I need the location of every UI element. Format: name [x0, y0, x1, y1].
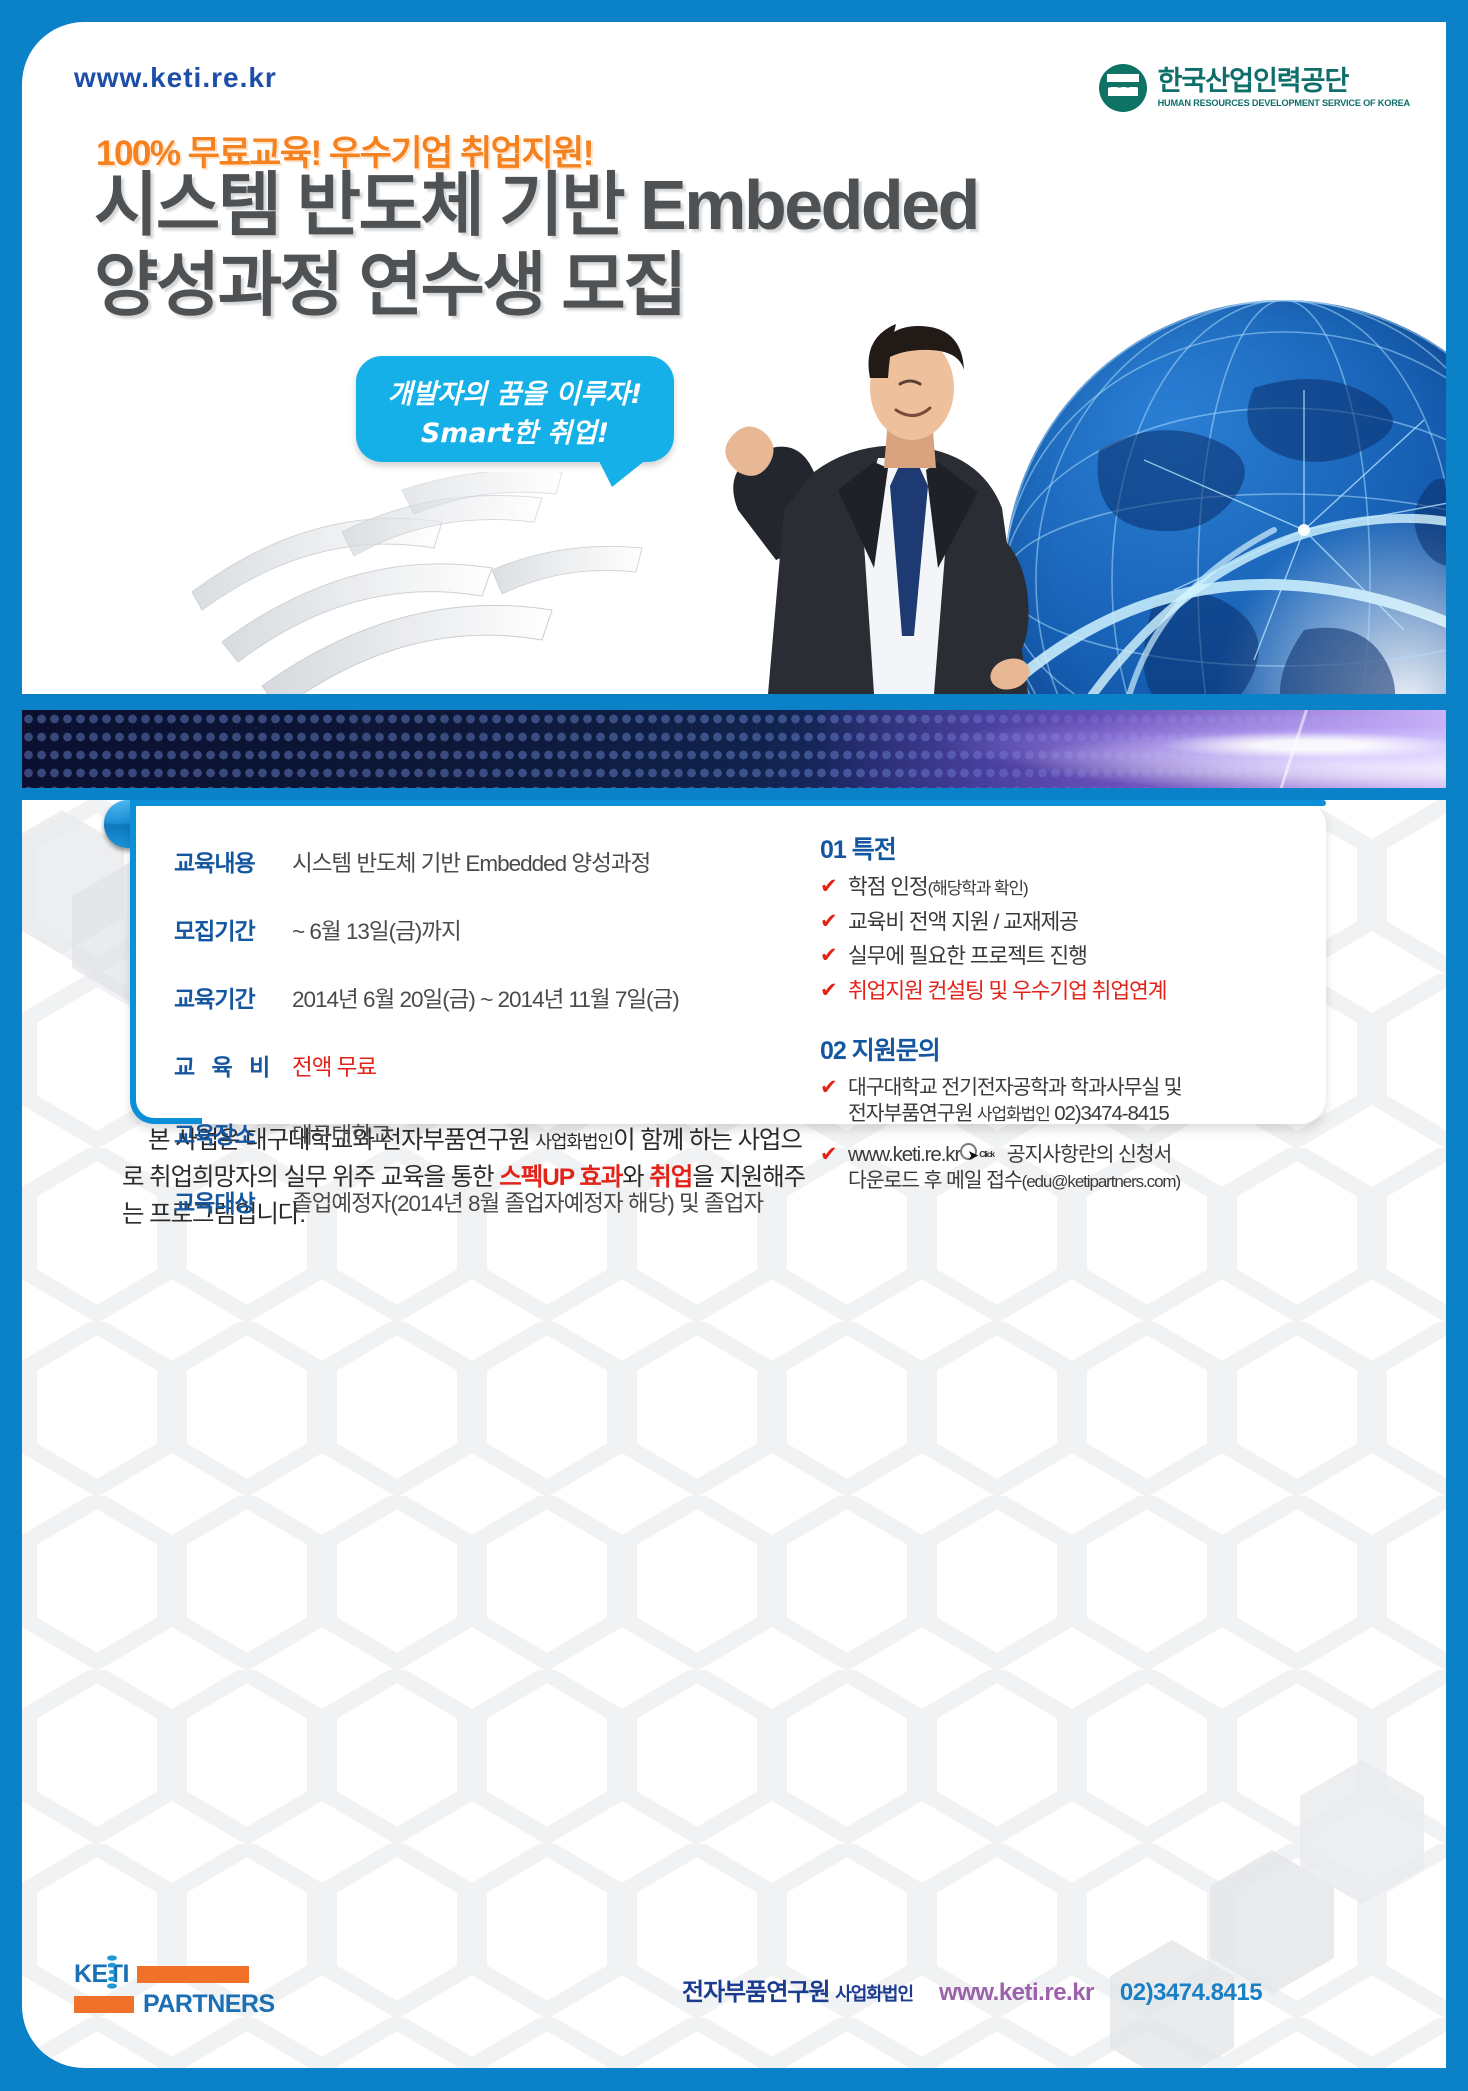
list-item: ✔ 학점 인정(해당학과 확인)	[820, 874, 1290, 902]
row-value: 졸업예정자(2014년 8월 졸업자예정자 해당) 및 졸업자	[292, 1186, 763, 1218]
notice-right-column: 01 특전 ✔ 학점 인정(해당학과 확인) ✔ 교육비 전액 지원 / 교재제…	[820, 830, 1290, 1208]
speech-bubble-line1: 개발자의 꿈을 이루자!	[356, 372, 674, 411]
table-row: 교육대상 졸업예정자(2014년 8월 졸업자예정자 해당) 및 졸업자	[174, 1184, 774, 1218]
contact-after: 공지사항란의 신청서	[1002, 1143, 1171, 1166]
keti-partners-logo: KETI PARTNERS	[74, 1960, 274, 2020]
row-value: 2014년 6월 20일(금) ~ 2014년 11월 7일(금)	[292, 982, 679, 1014]
benefit-plain: / 교재제공	[989, 910, 1078, 934]
benefits-list: ✔ 학점 인정(해당학과 확인) ✔ 교육비 전액 지원 / 교재제공 ✔ 실무…	[820, 874, 1290, 1005]
click-cursor-icon: ➤Click	[960, 1147, 1002, 1163]
list-item: ✔ 대구대학교 전기전자공학과 학과사무실 및 전자부품연구원 사업화법인 02…	[820, 1075, 1290, 1127]
benefit-red: 취업지원 컨설팅 및 우수기업 취업연계	[848, 978, 1166, 1006]
footer-org: 전자부품연구원 사업화법인	[682, 1972, 913, 2007]
footer-url[interactable]: www.keti.re.kr	[939, 1979, 1094, 2007]
list-item: ✔ 실무에 필요한 프로젝트 진행	[820, 943, 1290, 971]
banner-glow	[826, 710, 1446, 788]
contact-line1: 대구대학교 전기전자공학과 학과사무실 및	[848, 1076, 1181, 1099]
row-label: 교 육 비	[174, 1048, 292, 1082]
keti-wordmark: KETI	[74, 1960, 129, 1989]
check-icon: ✔	[820, 978, 848, 1005]
list-item: ✔ 교육비 전액 지원 / 교재제공	[820, 909, 1290, 937]
benefit-plain: 실무에 필요한 프로젝트 진행	[848, 943, 1087, 971]
contact-line2b: 사업화법인	[977, 1105, 1050, 1124]
row-value: 전액 무료	[292, 1050, 376, 1082]
tech-banner-strip	[22, 710, 1446, 788]
hero-title-line1: 시스템 반도체 기반 Embedded	[94, 170, 978, 240]
hrd-name-ko: 한국산업인력공단	[1158, 68, 1410, 95]
hrd-name-en: HUMAN RESOURCES DEVELOPMENT SERVICE OF K…	[1158, 98, 1410, 108]
contact-section: 02 지원문의 ✔ 대구대학교 전기전자공학과 학과사무실 및 전자부품연구원 …	[820, 1031, 1290, 1194]
contact-list: ✔ 대구대학교 전기전자공학과 학과사무실 및 전자부품연구원 사업화법인 02…	[820, 1075, 1290, 1194]
contact-line2: 다운로드 후 메일 접수	[848, 1169, 1022, 1192]
row-value: 대구대학교	[292, 1118, 391, 1150]
list-item: ✔ 취업지원 컨설팅 및 우수기업 취업연계	[820, 978, 1290, 1006]
content-panel: 청년취업아카데미 사업 본 사업은 대구대학교와 전자부품연구원 사업화법인이 …	[22, 800, 1446, 2068]
check-icon: ✔	[820, 909, 848, 936]
speech-bubble-line2: Smart한 취업!	[356, 411, 674, 450]
row-label: 교육장소	[174, 1116, 292, 1150]
table-row: 교육기간 2014년 6월 20일(금) ~ 2014년 11월 7일(금)	[174, 980, 774, 1014]
benefits-title: 01 특전	[820, 830, 1290, 866]
poster-root: www.keti.re.kr 한국산업인력공단 HUMAN RESOURCES …	[0, 0, 1468, 2091]
benefit-small: (해당학과 확인)	[928, 879, 1028, 898]
check-icon: ✔	[820, 1142, 848, 1169]
table-row: 모집기간 ~ 6월 13일(금)까지	[174, 912, 774, 946]
hrd-korea-logo: 한국산업인력공단 HUMAN RESOURCES DEVELOPMENT SER…	[1099, 64, 1410, 112]
partners-orange-bar	[74, 1996, 134, 2013]
row-label: 교육대상	[174, 1184, 292, 1218]
partners-wordmark: PARTNERS	[143, 1990, 275, 2019]
speech-bubble: 개발자의 꿈을 이루자! Smart한 취업!	[356, 356, 674, 462]
hero-panel: www.keti.re.kr 한국산업인력공단 HUMAN RESOURCES …	[22, 22, 1446, 694]
footer: KETI PARTNERS 전자부품연구원 사업화법인 www.keti.re.…	[22, 1946, 1446, 2068]
check-icon: ✔	[820, 874, 848, 901]
row-label: 교육내용	[174, 844, 292, 878]
table-row: 교 육 비 전액 무료	[174, 1048, 774, 1082]
businessman-photo	[642, 322, 1122, 694]
paper-arrows-graphic	[192, 472, 712, 694]
footer-tel: 02)3474.8415	[1120, 1979, 1262, 2007]
row-value: 시스템 반도체 기반 Embedded 양성과정	[292, 846, 650, 878]
row-label: 모집기간	[174, 912, 292, 946]
keti-orange-bar	[137, 1966, 249, 1983]
contact-line2a: 전자부품연구원	[848, 1102, 977, 1125]
table-row: 교육내용 시스템 반도체 기반 Embedded 양성과정	[174, 844, 774, 878]
contact-email: (edu@ketipartners.com)	[1022, 1172, 1180, 1191]
check-icon: ✔	[820, 1075, 848, 1102]
list-item: ✔ www.keti.re.kr➤Click 공지사항란의 신청서 다운로드 후…	[820, 1142, 1290, 1194]
click-label: Click	[979, 1149, 994, 1160]
table-row: 교육장소 대구대학교	[174, 1116, 774, 1150]
row-value: ~ 6월 13일(금)까지	[292, 914, 461, 946]
keti-logo-row-top: KETI	[74, 1960, 249, 1989]
hero-title-line2: 양성과정 연수생 모집	[94, 250, 685, 320]
hrd-wave-icon	[1099, 64, 1147, 112]
footer-contact: 전자부품연구원 사업화법인 www.keti.re.kr 02)3474.841…	[682, 1972, 1262, 2007]
card-top-rule	[130, 800, 1326, 806]
card-left-rule	[130, 800, 136, 1100]
check-icon: ✔	[820, 943, 848, 970]
contact-title: 02 지원문의	[820, 1031, 1290, 1067]
benefit-red: 교육비 전액 지원	[848, 910, 989, 934]
notice-card: 교육내용 시스템 반도체 기반 Embedded 양성과정 모집기간 ~ 6월 …	[130, 800, 1326, 1124]
contact-phone: 02)3474-8415	[1050, 1102, 1169, 1125]
keti-dot-column-icon	[106, 1954, 118, 1994]
row-label: 교육기간	[174, 980, 292, 1014]
notice-rows: 교육내용 시스템 반도체 기반 Embedded 양성과정 모집기간 ~ 6월 …	[174, 844, 774, 1218]
contact-url[interactable]: www.keti.re.kr	[848, 1143, 960, 1166]
benefit-red: 학점 인정	[848, 875, 928, 899]
keti-logo-row-bottom: PARTNERS	[74, 1990, 275, 2019]
site-url-top: www.keti.re.kr	[74, 62, 277, 94]
